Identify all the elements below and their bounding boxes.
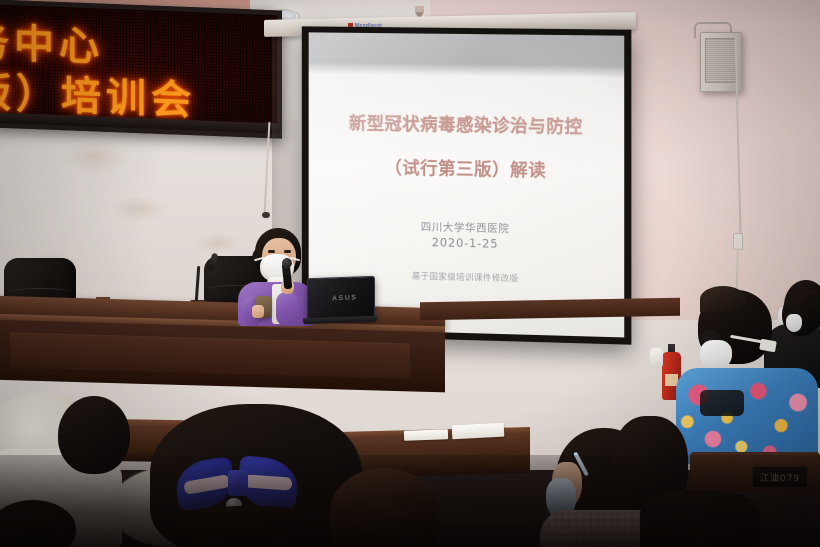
slide-footnote: 基于国家级培训课件修改版 — [412, 270, 519, 285]
presenter-arm-right — [276, 292, 298, 326]
slide-title-line-1: 新型冠状病毒感染诊治与防控 — [349, 110, 583, 139]
presenter-hand-left — [252, 305, 264, 318]
audience-mask-right-rear — [786, 314, 802, 332]
jacket-fur-trim — [700, 390, 744, 416]
audience-hair-top — [700, 286, 746, 312]
extinguisher-tag — [650, 348, 663, 368]
slide-date: 2020-1-25 — [432, 235, 499, 251]
seat-plaque: 江油079 — [752, 466, 808, 488]
slide-organization: 四川大学华西医院 — [421, 219, 510, 236]
presenter-eye-right — [284, 250, 291, 253]
desk-paper — [452, 423, 505, 440]
seat-plaque-label: 江油079 — [760, 471, 800, 484]
audience-hair-lower — [188, 506, 318, 547]
glasses-bridge — [716, 334, 724, 336]
wall-stain — [110, 196, 168, 222]
wall-stain — [196, 232, 240, 254]
speaker-grill — [705, 38, 736, 83]
audience-mask-floral — [700, 340, 732, 370]
sprinkler-base — [415, 6, 424, 13]
wall-stain — [60, 140, 130, 174]
audience-head-front-left — [58, 396, 130, 474]
presenter-eye-left — [268, 250, 275, 253]
laptop-brand-label: ASUS — [332, 294, 357, 302]
microphone-head-icon — [282, 258, 292, 268]
audience-head-bottom-right — [640, 490, 760, 547]
desk-paper — [404, 429, 448, 441]
hair-bow-knot — [228, 470, 248, 496]
audience-floral-jacket — [676, 368, 818, 464]
audience-head-front-right — [330, 468, 438, 547]
banner-cable-end — [262, 212, 270, 218]
slide-title-line-2: （试行第三版）解读 — [384, 154, 546, 182]
conference-room-photo: 务中心 版）培训会 Mcndlecst 新型冠状病毒感染诊治与防控 （试行第三版… — [0, 0, 820, 547]
